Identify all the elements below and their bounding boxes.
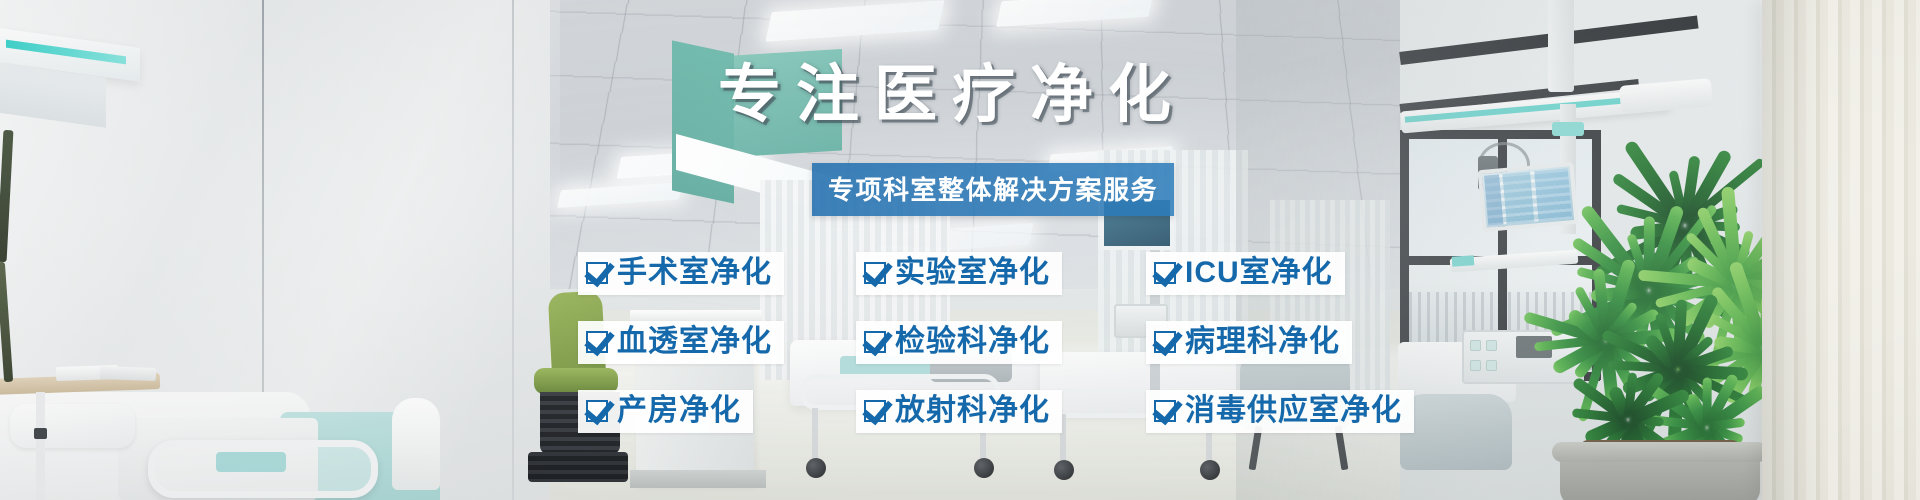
list-item-label: 消毒供应室净化 (1185, 394, 1402, 427)
list-item[interactable]: ICU室净化 (1146, 252, 1345, 295)
list-item-label: 病理科净化 (1185, 325, 1340, 358)
checkbox-checked-icon (1154, 400, 1176, 422)
service-list: 手术室净化 血透室净化 产房净化 实验室净化 检验科净化 放射科净化 (0, 0, 1920, 500)
list-item[interactable]: 消毒供应室净化 (1146, 390, 1414, 433)
list-item[interactable]: 实验室净化 (856, 252, 1062, 295)
service-column-2: 实验室净化 检验科净化 放射科净化 (856, 252, 1062, 459)
checkbox-checked-icon (586, 400, 608, 422)
list-item[interactable]: 手术室净化 (578, 252, 784, 295)
checkbox-checked-icon (1154, 262, 1176, 284)
list-item-label: 血透室净化 (617, 325, 772, 358)
list-item[interactable]: 血透室净化 (578, 321, 784, 364)
list-item-label: 手术室净化 (617, 256, 772, 289)
service-column-3: ICU室净化 病理科净化 消毒供应室净化 (1146, 252, 1414, 459)
list-item-label: 产房净化 (617, 394, 741, 427)
hero-banner: 专注医疗净化 专项科室整体解决方案服务 手术室净化 血透室净化 产房净化 实验室… (0, 0, 1920, 500)
service-column-1: 手术室净化 血透室净化 产房净化 (578, 252, 784, 459)
list-item[interactable]: 放射科净化 (856, 390, 1062, 433)
checkbox-checked-icon (864, 262, 886, 284)
list-item-label: 实验室净化 (895, 256, 1050, 289)
checkbox-checked-icon (586, 331, 608, 353)
checkbox-checked-icon (586, 262, 608, 284)
checkbox-checked-icon (1154, 331, 1176, 353)
list-item-label: 检验科净化 (895, 325, 1050, 358)
list-item[interactable]: 病理科净化 (1146, 321, 1352, 364)
checkbox-checked-icon (864, 331, 886, 353)
list-item-label: 放射科净化 (895, 394, 1050, 427)
list-item[interactable]: 产房净化 (578, 390, 753, 433)
list-item[interactable]: 检验科净化 (856, 321, 1062, 364)
checkbox-checked-icon (864, 400, 886, 422)
list-item-label: ICU室净化 (1185, 256, 1333, 289)
